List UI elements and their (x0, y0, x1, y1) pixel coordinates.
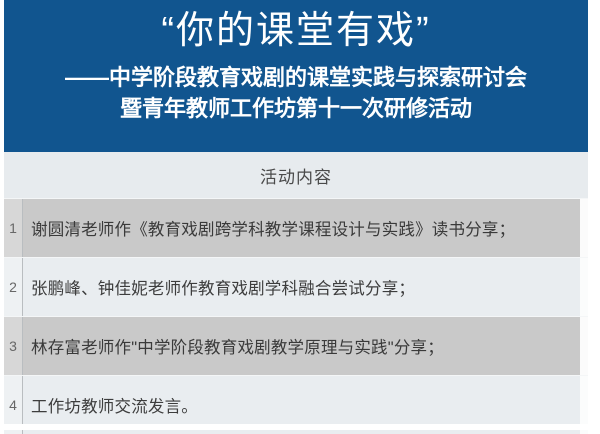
table-row: 2 张鹏峰、钟佳妮老师作教育戏剧学科融合尝试分享； (4, 257, 588, 316)
table-column-header: 活动内容 (4, 152, 588, 198)
subtitle-line-2: 暨青年教师工作坊第十一次研修活动 (4, 93, 588, 124)
row-tail (580, 317, 588, 375)
row-number: 1 (4, 199, 23, 257)
row-content: 谢圆清老师作《教育戏剧跨学科教学课程设计与实践》读书分享； (23, 199, 580, 257)
table-column-header-label: 活动内容 (260, 163, 332, 188)
slide-root: “你的课堂有戏” ——中学阶段教育戏剧的课堂实践与探索研讨会 暨青年教师工作坊第… (0, 0, 600, 430)
bottom-padding (0, 424, 600, 430)
page-title: “你的课堂有戏” (4, 4, 588, 58)
row-tail (580, 258, 588, 316)
table-row: 1 谢圆清老师作《教育戏剧跨学科教学课程设计与实践》读书分享； (4, 198, 588, 257)
row-number: 2 (4, 258, 23, 316)
table-row: 3 林存富老师作"中学阶段教育戏剧教学原理与实践"分享； (4, 316, 588, 375)
title-banner-content: “你的课堂有戏” ——中学阶段教育戏剧的课堂实践与探索研讨会 暨青年教师工作坊第… (4, 4, 588, 124)
row-content: 林存富老师作"中学阶段教育戏剧教学原理与实践"分享； (23, 317, 580, 375)
title-banner: “你的课堂有戏” ——中学阶段教育戏剧的课堂实践与探索研讨会 暨青年教师工作坊第… (4, 0, 588, 152)
subtitle-line-1: ——中学阶段教育戏剧的课堂实践与探索研讨会 (4, 62, 588, 93)
row-tail (580, 199, 588, 257)
agenda-table: 活动内容 1 谢圆清老师作《教育戏剧跨学科教学课程设计与实践》读书分享； 2 张… (4, 152, 588, 424)
row-content: 张鹏峰、钟佳妮老师作教育戏剧学科融合尝试分享； (23, 258, 580, 316)
row-number: 3 (4, 317, 23, 375)
